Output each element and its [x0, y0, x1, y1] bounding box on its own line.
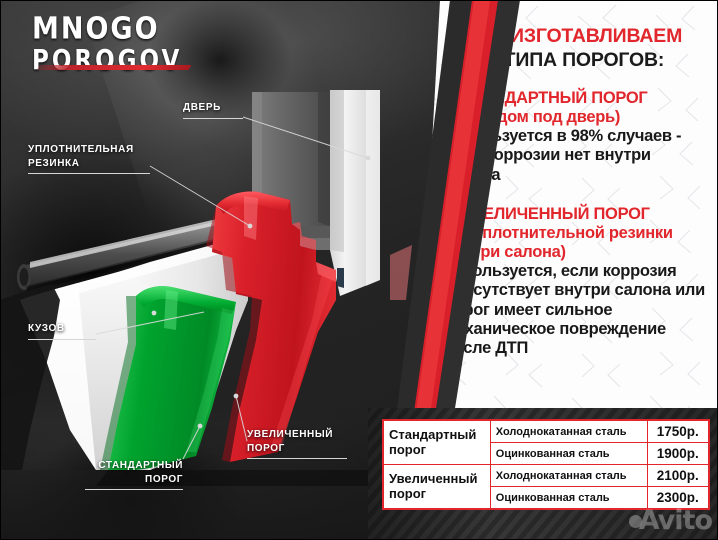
listing-image: MNOGO POROGOV ДВЕРЬ УПЛОТНИТЕЛЬНАЯ РЕЗИН… — [0, 0, 718, 540]
callout-body-rule — [28, 339, 96, 340]
callout-increased-sill: УВЕЛИЧЕННЫЙ ПОРОГ — [247, 428, 347, 459]
table-row: Стандартный порог Холоднокатанная сталь … — [383, 420, 709, 443]
price-value-1: 1750р. — [647, 420, 709, 443]
block-2-subtitle: (до уплотнительной резинки внутри салона… — [444, 224, 708, 262]
price-value-2: 1900р. — [647, 443, 709, 465]
callout-rubber: УПЛОТНИТЕЛЬНАЯ РЕЗИНКА — [28, 143, 158, 174]
callout-door: ДВЕРЬ — [183, 101, 243, 119]
callout-rubber-rule — [28, 173, 150, 174]
logo-line-2: POROGOV — [32, 48, 192, 75]
price-category-increased: Увеличенный порог — [383, 465, 490, 510]
block-1-subtitle: (с заходом под дверь) — [444, 108, 708, 127]
block-1-body: используется в 98% случаев - если корроз… — [444, 127, 708, 185]
info-block-standard: 1. СТАНДАРТНЫЙ ПОРОГ (с заходом под двер… — [444, 89, 708, 185]
price-category-standard: Стандартный порог — [383, 420, 490, 465]
logo-line-1: MNOGO — [32, 14, 192, 44]
callout-standard-rule — [85, 489, 183, 490]
callout-door-rule — [183, 118, 243, 119]
logo-swoosh — [37, 65, 192, 70]
price-material-1: Холоднокатанная сталь — [490, 420, 647, 443]
price-value-3: 2100р. — [647, 465, 709, 487]
callout-body-label: КУЗОВ — [28, 323, 65, 334]
block-2-body: используется, если коррозия присутствует… — [444, 262, 708, 358]
brand-logo: MNOGO POROGOV — [32, 14, 192, 72]
table-row: Увеличенный порог Холоднокатанная сталь … — [383, 465, 709, 487]
callout-standard-label: СТАНДАРТНЫЙ ПОРОГ — [98, 460, 183, 485]
callout-door-label: ДВЕРЬ — [183, 102, 221, 113]
callout-increased-label: УВЕЛИЧЕННЫЙ ПОРОГ — [247, 429, 333, 454]
price-value-4: 2300р. — [647, 487, 709, 510]
price-material-3: Холоднокатанная сталь — [490, 465, 647, 487]
price-material-4: Оцинкованная сталь — [490, 487, 647, 510]
callout-increased-rule — [247, 458, 347, 459]
callout-standard-sill: СТАНДАРТНЫЙ ПОРОГ — [85, 459, 183, 490]
info-block-increased: 2. УВЕЛИЧЕННЫЙ ПОРОГ (до уплотнительной … — [444, 205, 708, 359]
callout-body: КУЗОВ — [28, 322, 96, 340]
price-table: Стандартный порог Холоднокатанная сталь … — [382, 419, 710, 510]
panel-header-line-2: 2 ТИПА ПОРОГОВ: — [444, 50, 708, 72]
block-1-title: 1. СТАНДАРТНЫЙ ПОРОГ — [444, 89, 708, 108]
callout-rubber-label: УПЛОТНИТЕЛЬНАЯ РЕЗИНКА — [28, 144, 134, 169]
block-2-title: 2. УВЕЛИЧЕННЫЙ ПОРОГ — [444, 205, 708, 224]
panel-header-line-1: МЫ ИЗГОТАВЛИВАЕМ — [444, 26, 708, 48]
price-material-2: Оцинкованная сталь — [490, 443, 647, 465]
